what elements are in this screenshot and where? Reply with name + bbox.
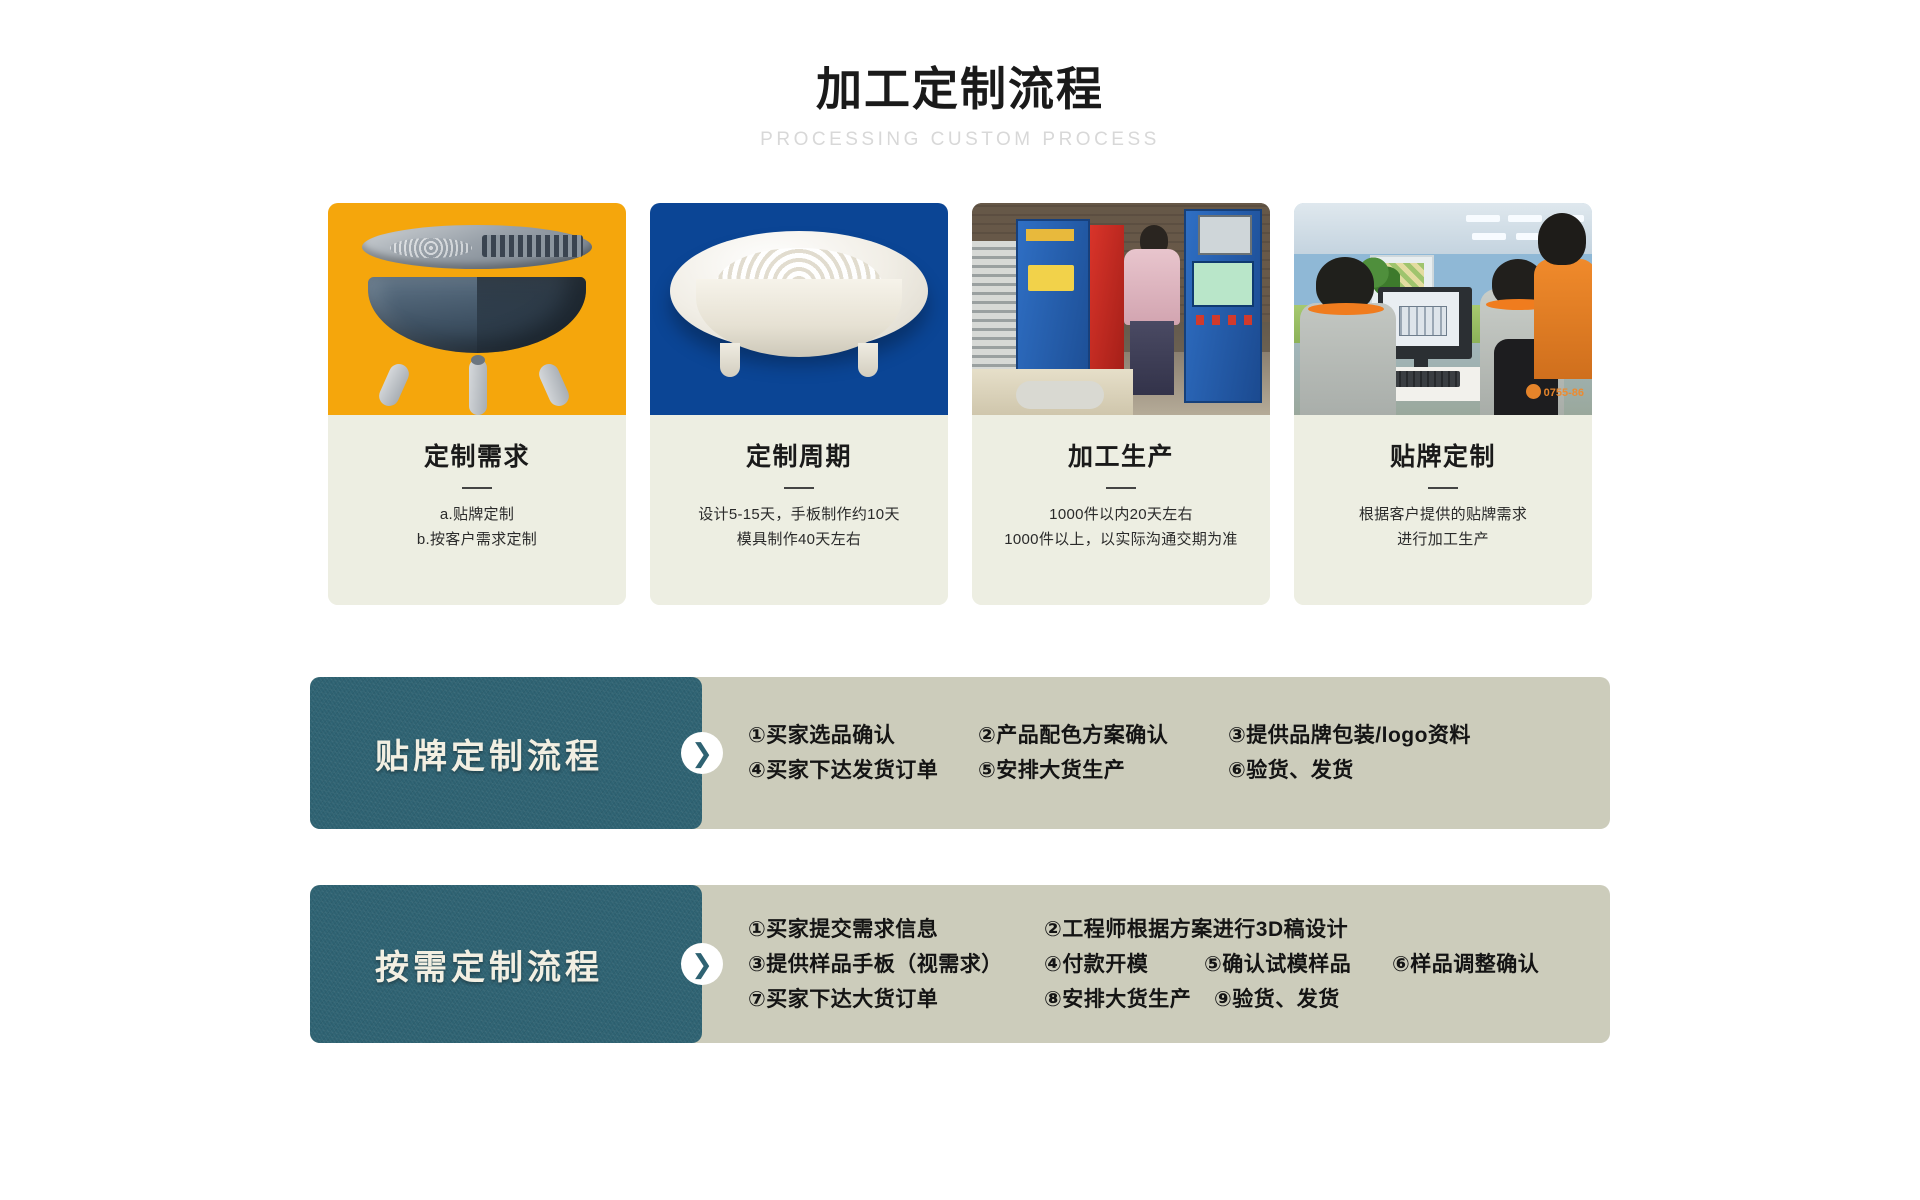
card-image-factory (972, 203, 1270, 415)
grill-leg-right (536, 361, 572, 409)
ondemand-process-steps: ①买家提交需求信息 ②工程师根据方案进行3D稿设计 ③提供样品手板（视需求） ④… (702, 885, 1610, 1043)
card-text-line: 根据客户提供的贴牌需求 (1308, 503, 1578, 528)
steps-row: ③提供样品手板（视需求） ④付款开模 ⑤确认试模样品 ⑥样品调整确认 (748, 954, 1610, 975)
process-card-custom-requirement[interactable]: 定制需求 a.贴牌定制 b.按客户需求定制 (328, 203, 626, 605)
prototype-leg-left (720, 343, 740, 377)
grill-bowl-part (368, 277, 586, 353)
process-step: ④买家下达发货订单 (748, 760, 978, 781)
process-step: ⑥样品调整确认 (1392, 954, 1539, 975)
steps-row: ①买家选品确认 ②产品配色方案确认 ③提供品牌包装/logo资料 (748, 725, 1610, 746)
ondemand-process-label: 按需定制流程 (375, 940, 637, 989)
process-step: ①买家选品确认 (748, 725, 978, 746)
process-step: ⑦买家下达大货订单 (748, 989, 1044, 1010)
watermark-logo-icon (1526, 384, 1541, 399)
grill-leg-left (376, 361, 412, 409)
card-text-line: a.贴牌定制 (342, 503, 612, 528)
factory-worker-pants (1130, 321, 1174, 395)
office-person-right-head (1538, 213, 1586, 265)
factory-worker-shirt (1124, 249, 1180, 325)
oem-process-steps: ①买家选品确认 ②产品配色方案确认 ③提供品牌包装/logo资料 ④买家下达发货… (702, 677, 1610, 829)
card-body: 定制周期 设计5-15天，手板制作约10天 模具制作40天左右 (650, 415, 948, 605)
monitor-stand (1414, 351, 1428, 367)
card-text-line: 1000件以内20天左右 (986, 503, 1256, 528)
process-cards-row: 定制需求 a.贴牌定制 b.按客户需求定制 定制周期 设计5-15天，手板制作约… (0, 203, 1920, 605)
ondemand-process-label-panel[interactable]: 按需定制流程 ❯ (310, 885, 702, 1043)
card-text-line: b.按客户需求定制 (342, 528, 612, 553)
process-card-production[interactable]: 加工生产 1000件以内20天左右 1000件以上，以实际沟通交期为准 (972, 203, 1270, 605)
factory-parts-stack (972, 241, 1018, 373)
card-body: 加工生产 1000件以内20天左右 1000件以上，以实际沟通交期为准 (972, 415, 1270, 605)
factory-panel-buttons (1196, 315, 1254, 325)
card-divider (1428, 487, 1458, 489)
steps-row: ⑦买家下达大货订单 ⑧安排大货生产 ⑨验货、发货 (748, 989, 1610, 1010)
process-step: ①买家提交需求信息 (748, 919, 1044, 940)
process-step: ⑥验货、发货 (1228, 760, 1354, 781)
factory-panel-display-top (1198, 215, 1252, 255)
office-person-right-body (1534, 259, 1592, 379)
card-image-office: 0755-86 (1294, 203, 1592, 415)
ceiling-light (1472, 233, 1506, 240)
grill-lid-part (362, 225, 592, 269)
process-step: ②产品配色方案确认 (978, 725, 1228, 746)
process-step: ⑧安排大货生产 (1044, 989, 1214, 1010)
process-card-custom-cycle[interactable]: 定制周期 设计5-15天，手板制作约10天 模具制作40天左右 (650, 203, 948, 605)
card-divider (462, 487, 492, 489)
cad-drawing (1399, 306, 1447, 336)
card-image-white-prototype (650, 203, 948, 415)
oem-process-label-panel[interactable]: 贴牌定制流程 ❯ (310, 677, 702, 829)
factory-molded-part (1016, 381, 1104, 409)
page-header: 加工定制流程 PROCESSING CUSTOM PROCESS (0, 0, 1920, 151)
oem-process-label: 贴牌定制流程 (375, 729, 637, 778)
card-title: 定制周期 (664, 437, 934, 473)
card-divider (1106, 487, 1136, 489)
oem-process-banner: 贴牌定制流程 ❯ ①买家选品确认 ②产品配色方案确认 ③提供品牌包装/logo资… (310, 677, 1610, 829)
office-person-left-body (1300, 303, 1396, 415)
card-text-line: 1000件以上，以实际沟通交期为准 (986, 528, 1256, 553)
process-step: ⑤确认试模样品 (1204, 954, 1392, 975)
ceiling-light (1508, 215, 1542, 222)
page-subtitle: PROCESSING CUSTOM PROCESS (0, 129, 1920, 151)
card-text-line: 模具制作40天左右 (664, 528, 934, 553)
card-text-line: 设计5-15天，手板制作约10天 (664, 503, 934, 528)
ondemand-process-banner: 按需定制流程 ❯ ①买家提交需求信息 ②工程师根据方案进行3D稿设计 ③提供样品… (310, 885, 1610, 1043)
grill-leg-center (469, 359, 487, 415)
card-title: 贴牌定制 (1308, 437, 1578, 473)
card-title: 加工生产 (986, 437, 1256, 473)
chevron-right-icon[interactable]: ❯ (681, 732, 723, 774)
factory-blue-machine (1016, 219, 1090, 383)
photo-watermark: 0755-86 (1526, 384, 1584, 399)
process-step: ⑤安排大货生产 (978, 760, 1228, 781)
factory-panel-display (1192, 261, 1254, 307)
process-step: ④付款开模 (1044, 954, 1204, 975)
steps-row: ④买家下达发货订单 ⑤安排大货生产 ⑥验货、发货 (748, 760, 1610, 781)
process-step: ③提供样品手板（视需求） (748, 954, 1044, 975)
process-step: ③提供品牌包装/logo资料 (1228, 725, 1471, 746)
steps-row: ①买家提交需求信息 ②工程师根据方案进行3D稿设计 (748, 919, 1610, 940)
factory-red-press (1090, 225, 1124, 375)
card-title: 定制需求 (342, 437, 612, 473)
watermark-text: 0755-86 (1544, 387, 1584, 399)
card-body: 贴牌定制 根据客户提供的贴牌需求 进行加工生产 (1294, 415, 1592, 605)
card-divider (784, 487, 814, 489)
process-card-oem[interactable]: 0755-86 贴牌定制 根据客户提供的贴牌需求 进行加工生产 (1294, 203, 1592, 605)
prototype-leg-right (858, 343, 878, 377)
page-title: 加工定制流程 (0, 62, 1920, 117)
card-text-line: 进行加工生产 (1308, 528, 1578, 553)
card-body: 定制需求 a.贴牌定制 b.按客户需求定制 (328, 415, 626, 605)
ceiling-light (1466, 215, 1500, 222)
process-step: ⑨验货、发货 (1214, 989, 1340, 1010)
chevron-right-icon[interactable]: ❯ (681, 943, 723, 985)
process-step: ②工程师根据方案进行3D稿设计 (1044, 919, 1348, 940)
card-image-product-exploded (328, 203, 626, 415)
